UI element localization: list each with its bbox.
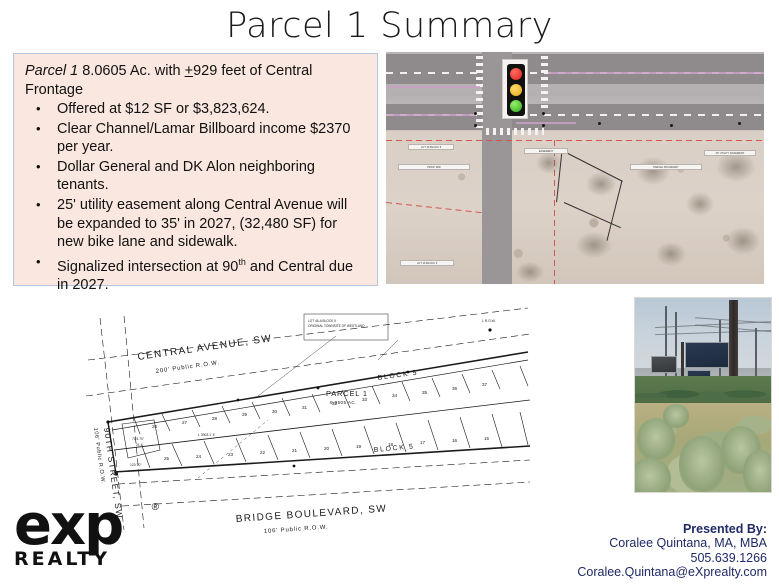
contact-phone[interactable]: 505.639.1266 (577, 551, 767, 566)
svg-text:71'4.70": 71'4.70" (132, 437, 145, 441)
logo-wordmark: exp (14, 500, 169, 552)
aerial-lane-marking (516, 114, 764, 116)
aerial-signal-point (542, 124, 545, 127)
svg-text:30: 30 (272, 409, 278, 414)
lead-plus-minus: + (185, 63, 193, 79)
aerial-parcel-boundary (386, 114, 476, 116)
aerial-intersection-plan: LOT 16 BLOCK 5 PROP. R/W EASEMENT PARCEL… (386, 52, 764, 284)
aerial-signal-point (670, 124, 673, 127)
page-title: Parcel 1 Summary (0, 4, 779, 48)
lead-acreage: 8.0605 (82, 63, 126, 79)
traffic-light-icon (502, 59, 528, 119)
slide-page: Parcel 1 Summary Parcel 1 8.0605 Ac. wit… (0, 0, 779, 588)
plat-note-2: ORIGINAL TOWNSITE OF WESTLAND (308, 324, 365, 328)
aerial-annotation: LOT 16 BLOCK 5 (400, 260, 454, 266)
svg-text:28: 28 (212, 416, 218, 421)
svg-text:120.70": 120.70" (130, 463, 142, 467)
bullet-utility-easement: 25' utility easement along Central Avenu… (25, 196, 367, 252)
svg-text:32: 32 (332, 401, 338, 406)
svg-text:21: 21 (292, 448, 298, 453)
photo-utility-pole (755, 328, 757, 382)
aerial-vegetation (586, 172, 616, 196)
aerial-signal-point (738, 122, 741, 125)
traffic-light-green-lamp (510, 100, 522, 112)
signalized-pre: Signalized intersection at 90 (57, 259, 238, 275)
svg-text:17: 17 (420, 440, 426, 445)
aerial-vegetation (536, 152, 562, 174)
traffic-light-red-lamp (510, 68, 522, 80)
svg-text:19: 19 (356, 444, 362, 449)
aerial-annotation: EASEMENT (524, 148, 568, 154)
billboard-site-photo (634, 297, 772, 493)
street-label-bridge: BRIDGE BOULEVARD, SW (235, 503, 387, 525)
aerial-road-upper (386, 54, 764, 84)
svg-text:25: 25 (164, 456, 170, 461)
plat-note: LOT 46-A BLOCK 5 (308, 319, 336, 323)
svg-text:16: 16 (452, 438, 458, 443)
aerial-parcel-boundary (386, 86, 480, 88)
svg-text:L R.O.W.: L R.O.W. (482, 319, 496, 323)
aerial-crosswalk-east (541, 56, 548, 112)
svg-text:L 3903.1' 4': L 3903.1' 4' (198, 433, 216, 437)
svg-text:24: 24 (196, 454, 202, 459)
aerial-annotation: PROP. R/W (398, 164, 470, 170)
plat-lot-numbers-lower: 252423 222120 191817 1615 (164, 436, 490, 461)
signalized-ordinal: th (238, 257, 246, 267)
aerial-vegetation (726, 227, 760, 255)
svg-text:29: 29 (242, 412, 248, 417)
summary-bullet-list: Offered at $12 SF or $3,823,624. Clear C… (25, 100, 367, 295)
aerial-signal-point (474, 112, 477, 115)
svg-text:26: 26 (152, 424, 158, 429)
street-label-central: CENTRAL AVENUE, SW (137, 333, 273, 363)
aerial-annotation: PARCEL BOUNDARY (630, 164, 702, 170)
photo-sagebrush (679, 436, 725, 492)
svg-text:23: 23 (228, 452, 234, 457)
plat-block-label: BLOCK 5 (377, 369, 418, 382)
aerial-vegetation (576, 232, 612, 258)
svg-text:36: 36 (452, 386, 458, 391)
svg-text:31: 31 (302, 405, 308, 410)
lead-parcel-label: Parcel 1 (25, 63, 78, 79)
summary-text-box: Parcel 1 8.0605 Ac. with +929 feet of Ce… (13, 53, 378, 286)
aerial-signal-point (598, 122, 601, 125)
aerial-lane-marking (386, 72, 478, 74)
bullet-signalized-intersection: Signalized intersection at 90th and Cent… (25, 253, 367, 295)
svg-text:27: 27 (182, 420, 188, 425)
photo-sagebrush (663, 404, 689, 428)
aerial-signal-point (542, 112, 545, 115)
svg-text:20: 20 (324, 446, 330, 451)
svg-text:15: 15 (484, 436, 490, 441)
bullet-offering-price: Offered at $12 SF or $3,823,624. (25, 100, 367, 119)
svg-text:37: 37 (482, 382, 488, 387)
aerial-vegetation (716, 152, 756, 182)
contact-block: Presented By: Coralee Quintana, MA, MBA … (577, 522, 767, 580)
street-row-central: 200' Public R.O.W. (155, 360, 220, 375)
traffic-light-housing (507, 64, 525, 116)
contact-name: Coralee Quintana, MA, MBA (577, 536, 767, 551)
aerial-road-lower (386, 104, 764, 130)
aerial-vegetation (656, 242, 686, 266)
svg-text:18: 18 (388, 442, 394, 447)
bullet-billboard-income: Clear Channel/Lamar Billboard income $23… (25, 120, 367, 157)
logo-subtitle: REALTY (14, 548, 169, 570)
aerial-vegetation (686, 192, 714, 216)
photo-billboard-blank (651, 356, 677, 373)
photo-utility-pole (675, 312, 677, 384)
traffic-light-yellow-lamp (510, 84, 522, 96)
street-row-bridge: 106' Public R.O.W. (264, 525, 329, 535)
lead-text-after: Ac. with (130, 63, 181, 79)
contact-heading: Presented By: (577, 522, 767, 537)
photo-sagebrush (743, 450, 772, 493)
aerial-annotation: LOT 16 BLOCK 5 (408, 144, 454, 150)
aerial-parcel-boundary (548, 72, 764, 74)
plat-block-label: BLOCK 5 (374, 443, 415, 454)
summary-lead: Parcel 1 8.0605 Ac. with +929 feet of Ce… (25, 62, 367, 99)
svg-text:21.6: 21.6 (136, 443, 143, 447)
svg-text:22: 22 (260, 450, 266, 455)
contact-email[interactable]: Coralee.Quintana@eXprealty.com (577, 565, 767, 580)
aerial-survey-line (386, 140, 764, 141)
aerial-parcel-boundary (516, 122, 576, 124)
svg-text:35: 35 (422, 390, 428, 395)
aerial-crosswalk-south (486, 128, 544, 135)
aerial-crosswalk-west (476, 56, 483, 128)
exp-realty-logo: exp ® REALTY (14, 500, 169, 576)
aerial-annotation: 25' UTILITY EASEMENT (704, 150, 756, 156)
aerial-signal-point (474, 124, 477, 127)
photo-billboard-ad (685, 342, 729, 368)
aerial-vegetation (516, 262, 544, 282)
aerial-vegetation (636, 157, 670, 185)
svg-text:34: 34 (392, 393, 398, 398)
registered-trademark-icon: ® (152, 502, 159, 513)
svg-text:33: 33 (362, 397, 368, 402)
lead-frontage: 929 (193, 63, 217, 79)
bullet-neighboring-tenants: Dollar General and DK Alon neighboring t… (25, 158, 367, 195)
